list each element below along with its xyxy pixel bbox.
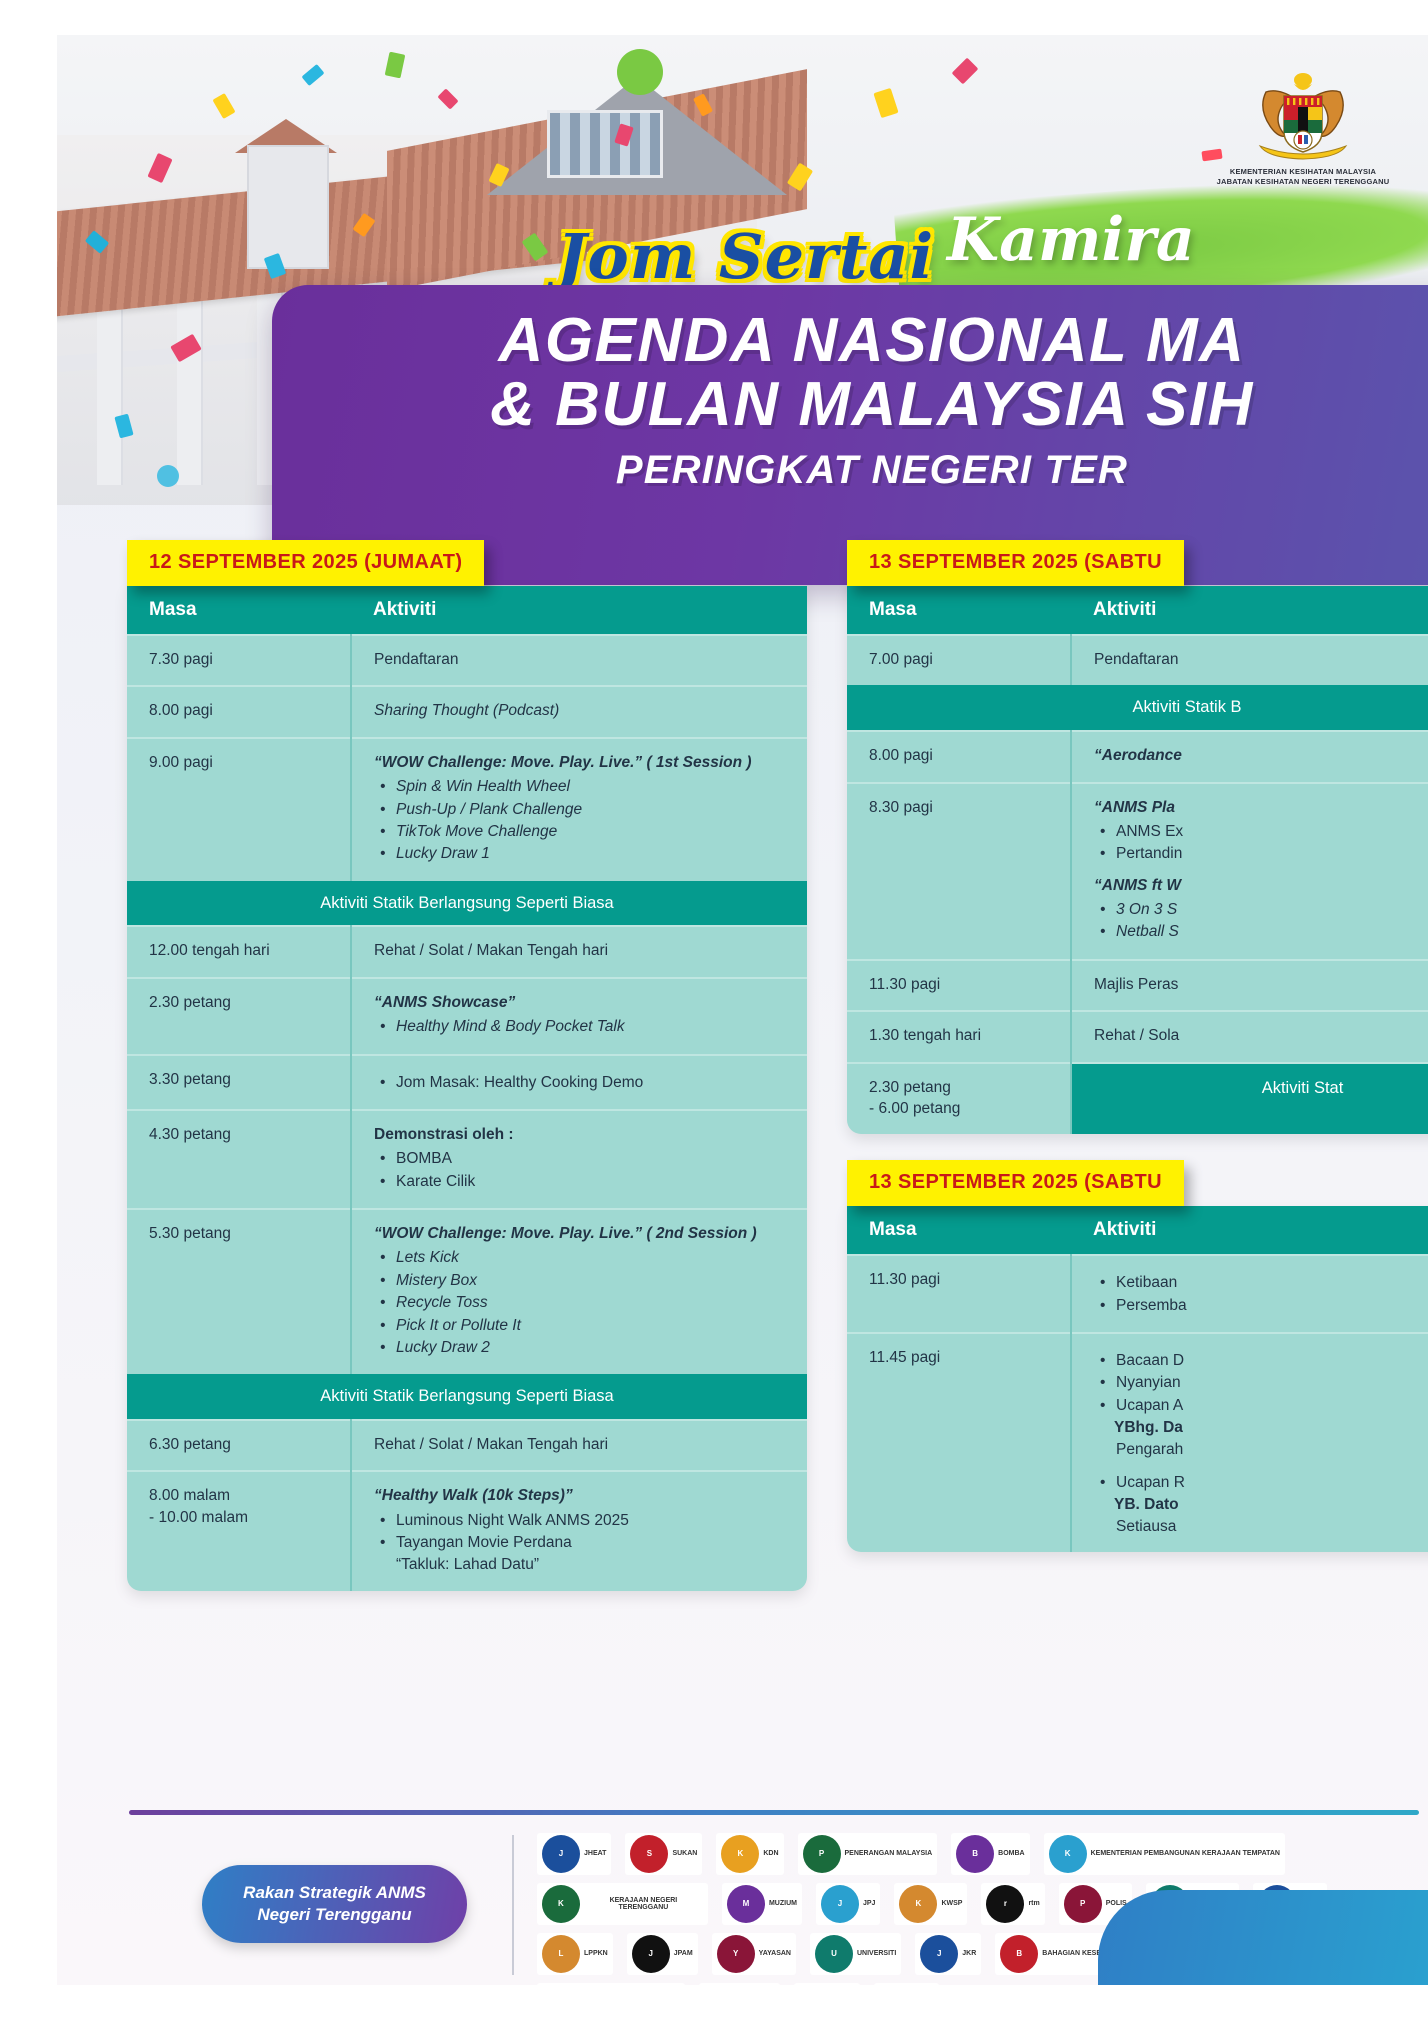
partner-logo-name: PENERANGAN MALAYSIA <box>845 1850 933 1857</box>
row-activity: “Healthy Walk (10k Steps)”Luminous Night… <box>351 1471 807 1591</box>
row-time: 8.00 pagi <box>127 686 351 737</box>
day2a-schedule-table: Masa Aktiviti 7.00 pagiPendaftaranAktivi… <box>847 586 1428 1134</box>
partner-logo: KKEMENTERIAN PEMBANGUNAN KERAJAAN TEMPAT… <box>1044 1834 1285 1874</box>
spacer <box>847 1134 1428 1160</box>
partner-logo: JJPAM <box>627 1934 698 1974</box>
partner-logo-name: LPPKN <box>584 1950 608 1957</box>
partner-logo-plate: SSUKAN <box>625 1833 702 1875</box>
partner-logo-name: KERAJAAN NEGERI TERENGGANU <box>584 1897 703 1912</box>
col-header-activity: Aktiviti <box>1071 586 1428 635</box>
row-activity: “WOW Challenge: Move. Play. Live.” ( 1st… <box>351 738 807 881</box>
row-time: 8.30 pagi <box>847 783 1071 960</box>
row-activity: KetibaanPersemba <box>1071 1255 1428 1333</box>
activity-subline-bold: YBhg. Da <box>1094 1417 1428 1438</box>
partner-logo-mark-icon: B <box>1000 1935 1038 1973</box>
partner-logo-plate: rrtm <box>981 1883 1044 1925</box>
row-activity: “Aerodance <box>1071 731 1428 782</box>
row-time: 6.30 petang <box>127 1420 351 1471</box>
partner-logo: MMAIDAM <box>699 1984 780 1985</box>
partner-logo-name: JHEAT <box>584 1850 606 1857</box>
partner-logo-mark-icon: P <box>803 1835 841 1873</box>
partner-logo-name: BOMBA <box>998 1850 1024 1857</box>
kamira-script: Kamira <box>947 205 1195 275</box>
partner-logo: YYAYASAN <box>712 1934 796 1974</box>
partner-logo-name: KDN <box>763 1850 778 1857</box>
partner-logo: UUNIVERSITI <box>810 1934 901 1974</box>
day2a-date-tag: 13 SEPTEMBER 2025 (SABTU <box>847 540 1184 586</box>
footer-divider-rule <box>129 1810 1419 1815</box>
list-item: TikTok Move Challenge <box>394 821 791 842</box>
row-activity: Bacaan DNyanyianUcapan AYBhg. DaPengarah… <box>1071 1333 1428 1552</box>
activity-title: “WOW Challenge: Move. Play. Live.” ( 2nd… <box>374 1223 791 1244</box>
partner-logo-plate: UUNIVERSITI <box>810 1933 901 1975</box>
crest-caption-line1: KEMENTERIAN KESIHATAN MALAYSIA <box>1198 167 1408 177</box>
list-item: 3 On 3 S <box>1114 899 1428 920</box>
partner-logo-mark-icon: M <box>727 1885 765 1923</box>
partner-logo-mark-icon: J <box>821 1885 859 1923</box>
activity-subline: Setiausa <box>1094 1516 1428 1537</box>
activity-title: Pendaftaran <box>374 649 791 670</box>
partner-logo-name: JPJ <box>863 1900 875 1907</box>
partner-logo: ggps <box>874 1984 938 1985</box>
table-row: 8.30 pagi“ANMS PlaANMS ExPertandin“ANMS … <box>847 783 1428 960</box>
list-item: Karate Cilik <box>394 1171 791 1192</box>
activity-title: “ANMS Showcase” <box>374 992 791 1013</box>
malaysia-coat-of-arms-icon <box>1248 70 1358 162</box>
partner-logo-plate: PPRUDENTIAL BSN TAKAFUL <box>537 1983 685 1985</box>
list-item: Recycle Toss <box>394 1292 791 1313</box>
table-row: 8.00 pagiSharing Thought (Podcast) <box>127 686 807 737</box>
day2a-table-body: 7.00 pagiPendaftaranAktiviti Statik B8.0… <box>847 635 1428 1134</box>
list-item: Push-Up / Plank Challenge <box>394 799 791 820</box>
partner-logo: rrtm <box>981 1884 1044 1924</box>
row-activity: Rehat / Solat / Makan Tengah hari <box>351 926 807 977</box>
spacer <box>1094 1460 1428 1469</box>
partner-logo-mark-icon: B <box>956 1835 994 1873</box>
row-time: 2.30 petang - 6.00 petang <box>847 1063 1071 1135</box>
partner-logo-plate: JJKR <box>915 1933 981 1975</box>
activity-title-secondary: “ANMS ft W <box>1094 875 1428 896</box>
list-item: Pick It or Pollute It <box>394 1315 791 1336</box>
crest-caption-line2: JABATAN KESIHATAN NEGERI TERENGGANU <box>1198 177 1408 187</box>
partner-logo-name: KEMENTERIAN PEMBANGUNAN KERAJAAN TEMPATA… <box>1091 1850 1280 1857</box>
row-time: 2.30 petang <box>127 978 351 1055</box>
static-activity-band-text: Aktiviti Stat <box>1071 1063 1428 1135</box>
activity-title: “ANMS Pla <box>1094 797 1428 818</box>
partner-logo-plate: KKERAJAAN NEGERI TERENGGANU <box>537 1883 708 1925</box>
partner-logo-mark-icon: S <box>630 1835 668 1873</box>
partner-logo: LLPPKN <box>537 1934 613 1974</box>
partner-logo-name: SUKAN <box>672 1850 697 1857</box>
partner-logo-name: rtm <box>1028 1900 1039 1907</box>
poster-canvas: Jom Sertai Kamira <box>0 0 1428 2018</box>
row-time: 12.00 tengah hari <box>127 926 351 977</box>
col-header-time: Masa <box>847 586 1071 635</box>
logo-row: JJHEATSSUKANKKDNPPENERANGAN MALAYSIABBOM… <box>537 1831 1327 1877</box>
building-column <box>177 275 203 485</box>
partner-logo-mark-icon: P <box>1064 1885 1102 1923</box>
partner-logo: KKWSP <box>894 1884 967 1924</box>
jom-sertai-script: Jom Sertai <box>557 220 934 293</box>
row-activity: Majlis Peras <box>1071 960 1428 1011</box>
table-row: 3.30 petangJom Masak: Healthy Cooking De… <box>127 1055 807 1110</box>
row-time: 4.30 petang <box>127 1110 351 1209</box>
partner-logo-plate: BBOMBA <box>951 1833 1029 1875</box>
partner-logo-mark-icon: L <box>542 1935 580 1973</box>
spacer <box>1094 866 1428 875</box>
activity-title: “Healthy Walk (10k Steps)” <box>374 1485 791 1506</box>
partner-logo: JJKR <box>915 1934 981 1974</box>
partner-logo: BBOMBA <box>951 1834 1029 1874</box>
list-item: Persemba <box>1114 1295 1428 1316</box>
day2b-date-tag: 13 SEPTEMBER 2025 (SABTU <box>847 1160 1184 1206</box>
partner-logo: MMUZIUM <box>722 1884 802 1924</box>
partner-logo-name: YAYASAN <box>759 1950 791 1957</box>
activity-bullet-list: 3 On 3 SNetball S <box>1094 899 1428 943</box>
row-activity: “ANMS Showcase”Healthy Mind & Body Pocke… <box>351 978 807 1055</box>
activity-bullet-list: Luminous Night Walk ANMS 2025Tayangan Mo… <box>374 1510 791 1575</box>
table-row: 9.00 pagi“WOW Challenge: Move. Play. Liv… <box>127 738 807 881</box>
row-activity: “ANMS PlaANMS ExPertandin“ANMS ft W3 On … <box>1071 783 1428 960</box>
partner-logo-plate: TTSG <box>794 1983 860 1985</box>
list-item: Ucapan R <box>1114 1472 1428 1493</box>
partner-logo-mark-icon: K <box>1049 1835 1087 1873</box>
row-time: 8.00 malam - 10.00 malam <box>127 1471 351 1591</box>
partner-logo-mark-icon: J <box>920 1935 958 1973</box>
activity-title: “WOW Challenge: Move. Play. Live.” ( 1st… <box>374 752 791 773</box>
partner-logo-mark-icon: r <box>986 1885 1024 1923</box>
ministry-crest-block: KEMENTERIAN KESIHATAN MALAYSIA JABATAN K… <box>1198 70 1408 187</box>
table-row: 11.30 pagiMajlis Peras <box>847 960 1428 1011</box>
partner-logo-plate: YYAYASAN <box>712 1933 796 1975</box>
row-activity: Rehat / Solat / Makan Tengah hari <box>351 1420 807 1471</box>
activity-title: Sharing Thought (Podcast) <box>374 700 791 721</box>
partner-logo: SSUKAN <box>625 1834 702 1874</box>
row-activity: “WOW Challenge: Move. Play. Live.” ( 2nd… <box>351 1209 807 1374</box>
partner-logo-name: KWSP <box>941 1900 962 1907</box>
list-item: Mistery Box <box>394 1270 791 1291</box>
list-item: Tayangan Movie Perdana“Takluk: Lahad Dat… <box>394 1532 791 1575</box>
list-item: Nyanyian <box>1114 1372 1428 1393</box>
day1-table-body: 7.30 pagiPendaftaran8.00 pagiSharing Tho… <box>127 635 807 1591</box>
activity-title: Majlis Peras <box>1094 974 1428 995</box>
list-item: Pertandin <box>1114 843 1428 864</box>
schedule-column-right: 13 SEPTEMBER 2025 (SABTU Masa Aktiviti 7… <box>847 540 1428 1552</box>
confetti-dot <box>157 465 179 487</box>
list-item: Ucapan A <box>1114 1395 1428 1416</box>
activity-title: Rehat / Sola <box>1094 1025 1428 1046</box>
partner-logo: TTSG <box>794 1984 860 1985</box>
bottom-right-corner-shape <box>1098 1890 1428 1985</box>
table-row: 2.30 petang“ANMS Showcase”Healthy Mind &… <box>127 978 807 1055</box>
partner-logo-name: UNIVERSITI <box>857 1950 896 1957</box>
row-activity: Pendaftaran <box>351 635 807 686</box>
partner-label-pill: Rakan Strategik ANMSNegeri Terengganu <box>202 1865 467 1943</box>
partner-logo-name: JKR <box>962 1950 976 1957</box>
activity-bullet-list: Lets KickMistery BoxRecycle TossPick It … <box>374 1247 791 1358</box>
table-row: 12.00 tengah hariRehat / Solat / Makan T… <box>127 926 807 977</box>
day2b-schedule-table: Masa Aktiviti 11.30 pagiKetibaanPersemba… <box>847 1206 1428 1552</box>
partner-logo-plate: JJHEAT <box>537 1833 611 1875</box>
activity-subline: Pengarah <box>1094 1439 1428 1460</box>
list-item: Healthy Mind & Body Pocket Talk <box>394 1016 791 1037</box>
col-header-activity: Aktiviti <box>351 586 807 635</box>
table-row: 5.30 petang“WOW Challenge: Move. Play. L… <box>127 1209 807 1374</box>
partner-logo-name: MUZIUM <box>769 1900 797 1907</box>
partner-logo-plate: PPENERANGAN MALAYSIA <box>798 1833 938 1875</box>
list-item: Lucky Draw 1 <box>394 843 791 864</box>
partner-logo-name: JPAM <box>674 1950 693 1957</box>
activity-bullet-list: Bacaan DNyanyianUcapan A <box>1094 1350 1428 1416</box>
partner-logo: JJPJ <box>816 1884 880 1924</box>
schedule-area: 12 SEPTEMBER 2025 (JUMAAT) Masa Aktiviti… <box>57 540 1428 1805</box>
list-item: Luminous Night Walk ANMS 2025 <box>394 1510 791 1531</box>
table-row: 4.30 petangDemonstrasi oleh :BOMBAKarate… <box>127 1110 807 1209</box>
partner-logo-mark-icon: J <box>632 1935 670 1973</box>
activity-title: Pendaftaran <box>1094 649 1428 670</box>
static-activity-band-text: Aktiviti Statik Berlangsung Seperti Bias… <box>127 1374 807 1420</box>
static-activity-band-row: Aktiviti Statik B <box>847 685 1428 731</box>
row-activity: Sharing Thought (Podcast) <box>351 686 807 737</box>
title-line-3: PERINGKAT NEGERI TER <box>272 448 1428 493</box>
table-header-row: Masa Aktiviti <box>127 586 807 635</box>
partner-logo-mark-icon: U <box>815 1935 853 1973</box>
row-time: 11.30 pagi <box>847 1255 1071 1333</box>
day2b-table-body: 11.30 pagiKetibaanPersemba11.45 pagiBaca… <box>847 1255 1428 1552</box>
row-activity: Pendaftaran <box>1071 635 1428 685</box>
row-activity: Jom Masak: Healthy Cooking Demo <box>351 1055 807 1110</box>
partner-logo-plate: KKDN <box>716 1833 783 1875</box>
day1-tag-row: 12 SEPTEMBER 2025 (JUMAAT) <box>127 540 807 586</box>
static-activity-band-text: Aktiviti Statik B <box>847 685 1428 731</box>
partner-logo-plate: MMUZIUM <box>722 1883 802 1925</box>
table-row: 7.30 pagiPendaftaran <box>127 635 807 686</box>
partner-logo-plate: MMAIDAM <box>699 1983 780 1985</box>
col-header-time: Masa <box>127 586 351 635</box>
footer-vertical-divider <box>512 1835 514 1975</box>
static-activity-band-row: Aktiviti Statik Berlangsung Seperti Bias… <box>127 1374 807 1420</box>
tower-body <box>247 145 329 269</box>
row-time: 7.00 pagi <box>847 635 1071 685</box>
activity-bullet-list: Jom Masak: Healthy Cooking Demo <box>374 1072 791 1093</box>
partner-logo: PPENERANGAN MALAYSIA <box>798 1834 938 1874</box>
gable-window <box>547 110 663 178</box>
partner-logo-mark-icon: J <box>542 1835 580 1873</box>
partner-logo: JJHEAT <box>537 1834 611 1874</box>
list-item: Lets Kick <box>394 1247 791 1268</box>
activity-bullet-list: Ucapan R <box>1094 1472 1428 1493</box>
activity-bullet-list: BOMBAKarate Cilik <box>374 1148 791 1192</box>
static-activity-band-row: Aktiviti Statik Berlangsung Seperti Bias… <box>127 881 807 927</box>
table-row: 11.30 pagiKetibaanPersemba <box>847 1255 1428 1333</box>
row-time: 7.30 pagi <box>127 635 351 686</box>
partner-logo-plate: JJPJ <box>816 1883 880 1925</box>
row-activity: Rehat / Sola <box>1071 1011 1428 1062</box>
day1-date-tag: 12 SEPTEMBER 2025 (JUMAAT) <box>127 540 484 586</box>
day2b-tag-row: 13 SEPTEMBER 2025 (SABTU <box>847 1160 1428 1206</box>
partner-logo-plate: JJPAM <box>627 1933 698 1975</box>
activity-subline-bold: YB. Dato <box>1094 1494 1428 1515</box>
partner-logo-mark-icon: K <box>899 1885 937 1923</box>
list-item: Bacaan D <box>1114 1350 1428 1371</box>
schedule-column-left: 12 SEPTEMBER 2025 (JUMAAT) Masa Aktiviti… <box>127 540 807 1591</box>
partner-logo-mark-icon: K <box>721 1835 759 1873</box>
partner-logo: KKDN <box>716 1834 783 1874</box>
table-row: 8.00 malam - 10.00 malam“Healthy Walk (1… <box>127 1471 807 1591</box>
activity-bullet-list: Healthy Mind & Body Pocket Talk <box>374 1016 791 1037</box>
table-row: 7.00 pagiPendaftaran <box>847 635 1428 685</box>
list-item: Jom Masak: Healthy Cooking Demo <box>394 1072 791 1093</box>
day1-schedule-table: Masa Aktiviti 7.30 pagiPendaftaran8.00 p… <box>127 586 807 1591</box>
activity-title: Rehat / Solat / Makan Tengah hari <box>374 940 791 961</box>
table-row: 11.45 pagiBacaan DNyanyianUcapan AYBhg. … <box>847 1333 1428 1552</box>
title-line-1: AGENDA NASIONAL MA <box>272 309 1428 373</box>
row-time: 1.30 tengah hari <box>847 1011 1071 1062</box>
static-activity-band-text: Aktiviti Statik Berlangsung Seperti Bias… <box>127 881 807 927</box>
table-row: 8.00 pagi“Aerodance <box>847 731 1428 782</box>
partner-logo-plate: LLPPKN <box>537 1933 613 1975</box>
confetti-dot <box>617 49 663 95</box>
activity-title: Rehat / Solat / Makan Tengah hari <box>374 1434 791 1455</box>
table-row: 1.30 tengah hariRehat / Sola <box>847 1011 1428 1062</box>
partner-logo: KKERAJAAN NEGERI TERENGGANU <box>537 1884 708 1924</box>
partner-logo-plate: KKEMENTERIAN PEMBANGUNAN KERAJAAN TEMPAT… <box>1044 1833 1285 1875</box>
list-item: Netball S <box>1114 921 1428 942</box>
row-time: 9.00 pagi <box>127 738 351 881</box>
partner-label-text: Rakan Strategik ANMSNegeri Terengganu <box>243 1882 426 1926</box>
row-activity: Demonstrasi oleh :BOMBAKarate Cilik <box>351 1110 807 1209</box>
activity-bullet-list: ANMS ExPertandin <box>1094 821 1428 865</box>
list-item: Lucky Draw 2 <box>394 1337 791 1358</box>
table-row: 6.30 petangRehat / Solat / Makan Tengah … <box>127 1420 807 1471</box>
row-time: 8.00 pagi <box>847 731 1071 782</box>
poster-sheet: Jom Sertai Kamira <box>57 35 1428 1985</box>
list-item: Ketibaan <box>1114 1272 1428 1293</box>
col-header-activity: Aktiviti <box>1071 1206 1428 1255</box>
table-row: 2.30 petang - 6.00 petangAktiviti Stat <box>847 1063 1428 1135</box>
partner-logo: PPRUDENTIAL BSN TAKAFUL <box>537 1984 685 1985</box>
partner-logo-mark-icon: K <box>542 1885 580 1923</box>
activity-title: “Aerodance <box>1094 745 1428 766</box>
day2a-tag-row: 13 SEPTEMBER 2025 (SABTU <box>847 540 1428 586</box>
partner-logo-mark-icon: Y <box>717 1935 755 1973</box>
row-time: 11.45 pagi <box>847 1333 1071 1552</box>
list-item: Spin & Win Health Wheel <box>394 776 791 797</box>
table-header-row: Masa Aktiviti <box>847 1206 1428 1255</box>
list-item: ANMS Ex <box>1114 821 1428 842</box>
activity-title: Demonstrasi oleh : <box>374 1124 791 1145</box>
activity-bullet-list: KetibaanPersemba <box>1094 1272 1428 1316</box>
row-time: 3.30 petang <box>127 1055 351 1110</box>
table-header-row: Masa Aktiviti <box>847 586 1428 635</box>
title-line-2: & BULAN MALAYSIA SIH <box>272 373 1428 437</box>
activity-bullet-list: Spin & Win Health WheelPush-Up / Plank C… <box>374 776 791 865</box>
partner-logo-plate: ggps <box>874 1983 938 1985</box>
col-header-time: Masa <box>847 1206 1071 1255</box>
row-time: 11.30 pagi <box>847 960 1071 1011</box>
row-time: 5.30 petang <box>127 1209 351 1374</box>
list-item: BOMBA <box>394 1148 791 1169</box>
partner-logo-plate: KKWSP <box>894 1883 967 1925</box>
